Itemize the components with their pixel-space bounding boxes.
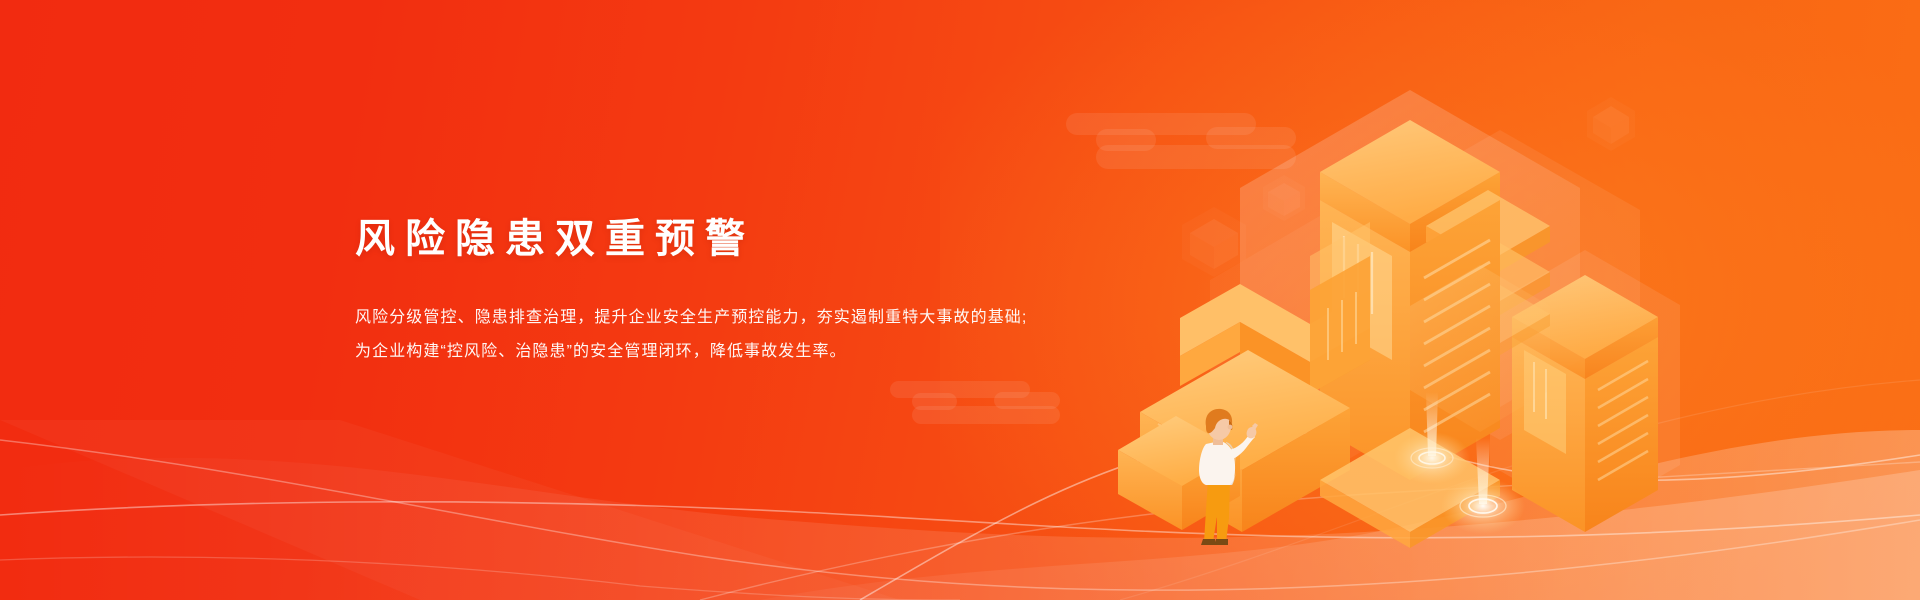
- person-hand: [1247, 427, 1257, 438]
- ghost-volumes: [1210, 90, 1640, 470]
- cloud-bar: [912, 393, 957, 410]
- person-shoe-left: [1201, 539, 1215, 545]
- wave-line-6: [1120, 380, 1920, 600]
- hero-subcopy: 风险分级管控、隐患排查治理，提升企业安全生产预控能力，夯实遏制重特大事故的基础;…: [355, 301, 1215, 369]
- wave-sheet-left: [0, 458, 1920, 600]
- ghost-diamond: [1410, 265, 1550, 432]
- hero-banner: 风险隐患双重预警 风险分级管控、隐患排查治理，提升企业安全生产预控能力，夯实遏制…: [0, 0, 1920, 600]
- cloud-bar: [1096, 129, 1156, 151]
- wave-band-diagonal: [0, 420, 900, 600]
- center-vents: [1424, 240, 1490, 432]
- person-head: [1207, 412, 1231, 440]
- iso-cube-decor-2: [1260, 172, 1308, 224]
- cloud-motif-upper: [1066, 113, 1296, 173]
- wave-line-2: [0, 440, 1920, 590]
- person-pants: [1204, 480, 1230, 542]
- hero-copy: 风险隐患双重预警 风险分级管控、隐患排查治理，提升企业安全生产预控能力，夯实遏制…: [355, 215, 1215, 369]
- tower-right: [1490, 250, 1680, 532]
- cloud-bar: [890, 381, 1030, 398]
- mid-platform: [1320, 428, 1500, 548]
- subcopy-line-1: 风险分级管控、隐患排查治理，提升企业安全生产预控能力，夯实遏制重特大事故的基础;: [355, 301, 1215, 335]
- person-arm: [1223, 433, 1255, 460]
- person-hair: [1206, 409, 1232, 433]
- person-shirt: [1199, 441, 1235, 485]
- cloud-bar: [1206, 127, 1296, 149]
- wave-line-3: [860, 433, 1920, 600]
- iso-cube-decor-3: [1583, 94, 1639, 154]
- wave-line-5: [0, 557, 960, 600]
- cloud-bar: [1066, 113, 1256, 135]
- wave-sheet-right: [760, 430, 1920, 600]
- wave-line-4: [700, 462, 1920, 600]
- page-title: 风险隐患双重预警: [355, 215, 1215, 263]
- cloud-bar: [1096, 145, 1296, 169]
- front-box: [1118, 416, 1240, 530]
- left-slab: [1140, 350, 1350, 532]
- subcopy-line-2: 为企业构建“控风险、治隐患”的安全管理闭环，降低事故发生率。: [355, 335, 1215, 369]
- cloud-bar: [912, 406, 1060, 424]
- person-illustration: [1192, 406, 1272, 546]
- center-panel: [1332, 222, 1392, 360]
- tower-panel: [1524, 350, 1566, 454]
- person-shoe-right: [1214, 539, 1228, 545]
- wave-line-1: [0, 502, 1920, 538]
- cloud-bar: [994, 392, 1060, 409]
- tower-center: [1320, 120, 1550, 480]
- person-finger: [1252, 423, 1258, 430]
- glow-beam-2: [1440, 438, 1526, 554]
- cloud-motif-lower: [890, 381, 1060, 427]
- tower-vents: [1598, 361, 1648, 480]
- glow-beam-1: [1392, 392, 1472, 502]
